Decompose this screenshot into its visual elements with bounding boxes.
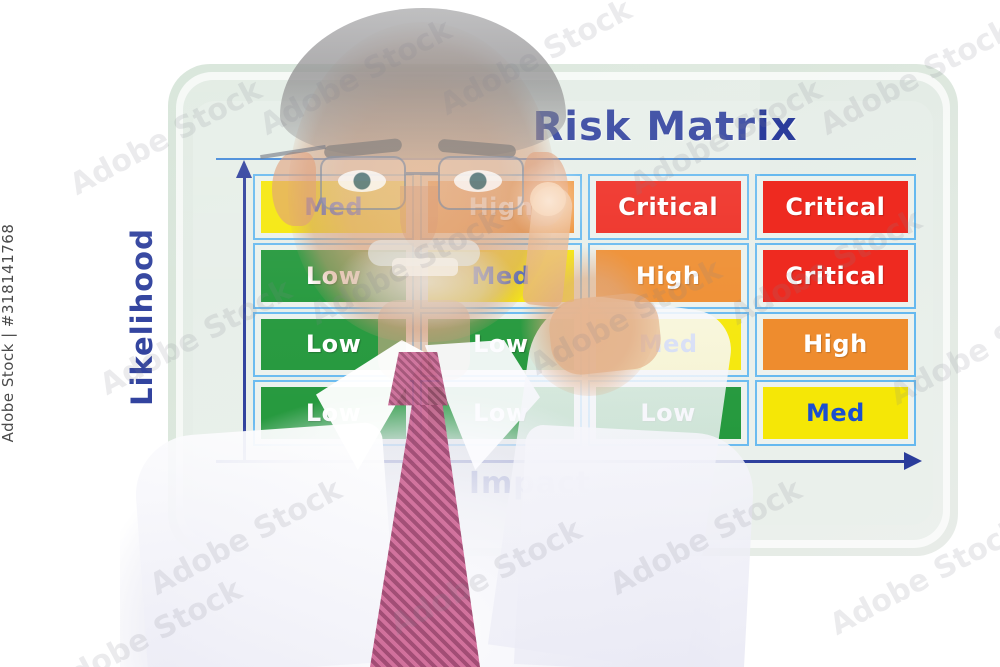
watermark-tile: Adobe Stock xyxy=(44,572,248,667)
risk-cell-label: Low xyxy=(596,387,741,439)
risk-cell-label: High xyxy=(428,181,573,233)
risk-cell-label: Low xyxy=(428,319,573,371)
risk-cell-label: Low xyxy=(261,250,406,302)
risk-cell-med-r3c3[interactable]: Med xyxy=(588,312,749,378)
likelihood-axis-label: Likelihood xyxy=(125,167,159,467)
arrow-up-icon xyxy=(236,160,252,178)
risk-cell-high-r3c4[interactable]: High xyxy=(755,312,916,378)
risk-cell-low-r3c2[interactable]: Low xyxy=(420,312,581,378)
risk-cell-label: Med xyxy=(763,387,908,439)
risk-cell-low-r4c2[interactable]: Low xyxy=(420,380,581,446)
risk-cell-med-r1c1[interactable]: Med xyxy=(253,174,414,240)
risk-cell-high-r2c3[interactable]: High xyxy=(588,243,749,309)
risk-cell-med-r2c2[interactable]: Med xyxy=(420,243,581,309)
impact-axis-label: Impact xyxy=(380,466,680,501)
risk-cell-critical-r1c3[interactable]: Critical xyxy=(588,174,749,240)
risk-cell-critical-r2c4[interactable]: Critical xyxy=(755,243,916,309)
risk-cell-label: Med xyxy=(261,181,406,233)
adobe-stock-watermark: Adobe Stock | #318141768 xyxy=(0,224,17,443)
risk-cell-label: High xyxy=(596,250,741,302)
risk-cell-label: Critical xyxy=(763,250,908,302)
screenshot-stage: Risk Matrix Likelihood Impact MedHighCri… xyxy=(0,0,1000,667)
risk-cell-label: Low xyxy=(261,319,406,371)
risk-cell-low-r2c1[interactable]: Low xyxy=(253,243,414,309)
risk-cell-low-r4c3[interactable]: Low xyxy=(588,380,749,446)
likelihood-axis-line xyxy=(243,172,246,460)
risk-cell-label: Med xyxy=(596,319,741,371)
risk-matrix-grid: MedHighCriticalCriticalLowMedHighCritica… xyxy=(253,174,916,446)
risk-cell-label: Low xyxy=(261,387,406,439)
risk-cell-high-r1c2[interactable]: High xyxy=(420,174,581,240)
impact-axis-line xyxy=(216,460,912,463)
risk-cell-label: Med xyxy=(428,250,573,302)
risk-cell-low-r4c1[interactable]: Low xyxy=(253,380,414,446)
page-title: Risk Matrix xyxy=(420,104,910,150)
risk-cell-label: High xyxy=(763,319,908,371)
risk-cell-low-r3c1[interactable]: Low xyxy=(253,312,414,378)
risk-cell-label: Low xyxy=(428,387,573,439)
arrow-right-icon xyxy=(904,452,922,470)
risk-cell-med-r4c4[interactable]: Med xyxy=(755,380,916,446)
risk-cell-label: Critical xyxy=(596,181,741,233)
risk-cell-label: Critical xyxy=(763,181,908,233)
title-divider xyxy=(216,158,916,160)
risk-cell-critical-r1c4[interactable]: Critical xyxy=(755,174,916,240)
